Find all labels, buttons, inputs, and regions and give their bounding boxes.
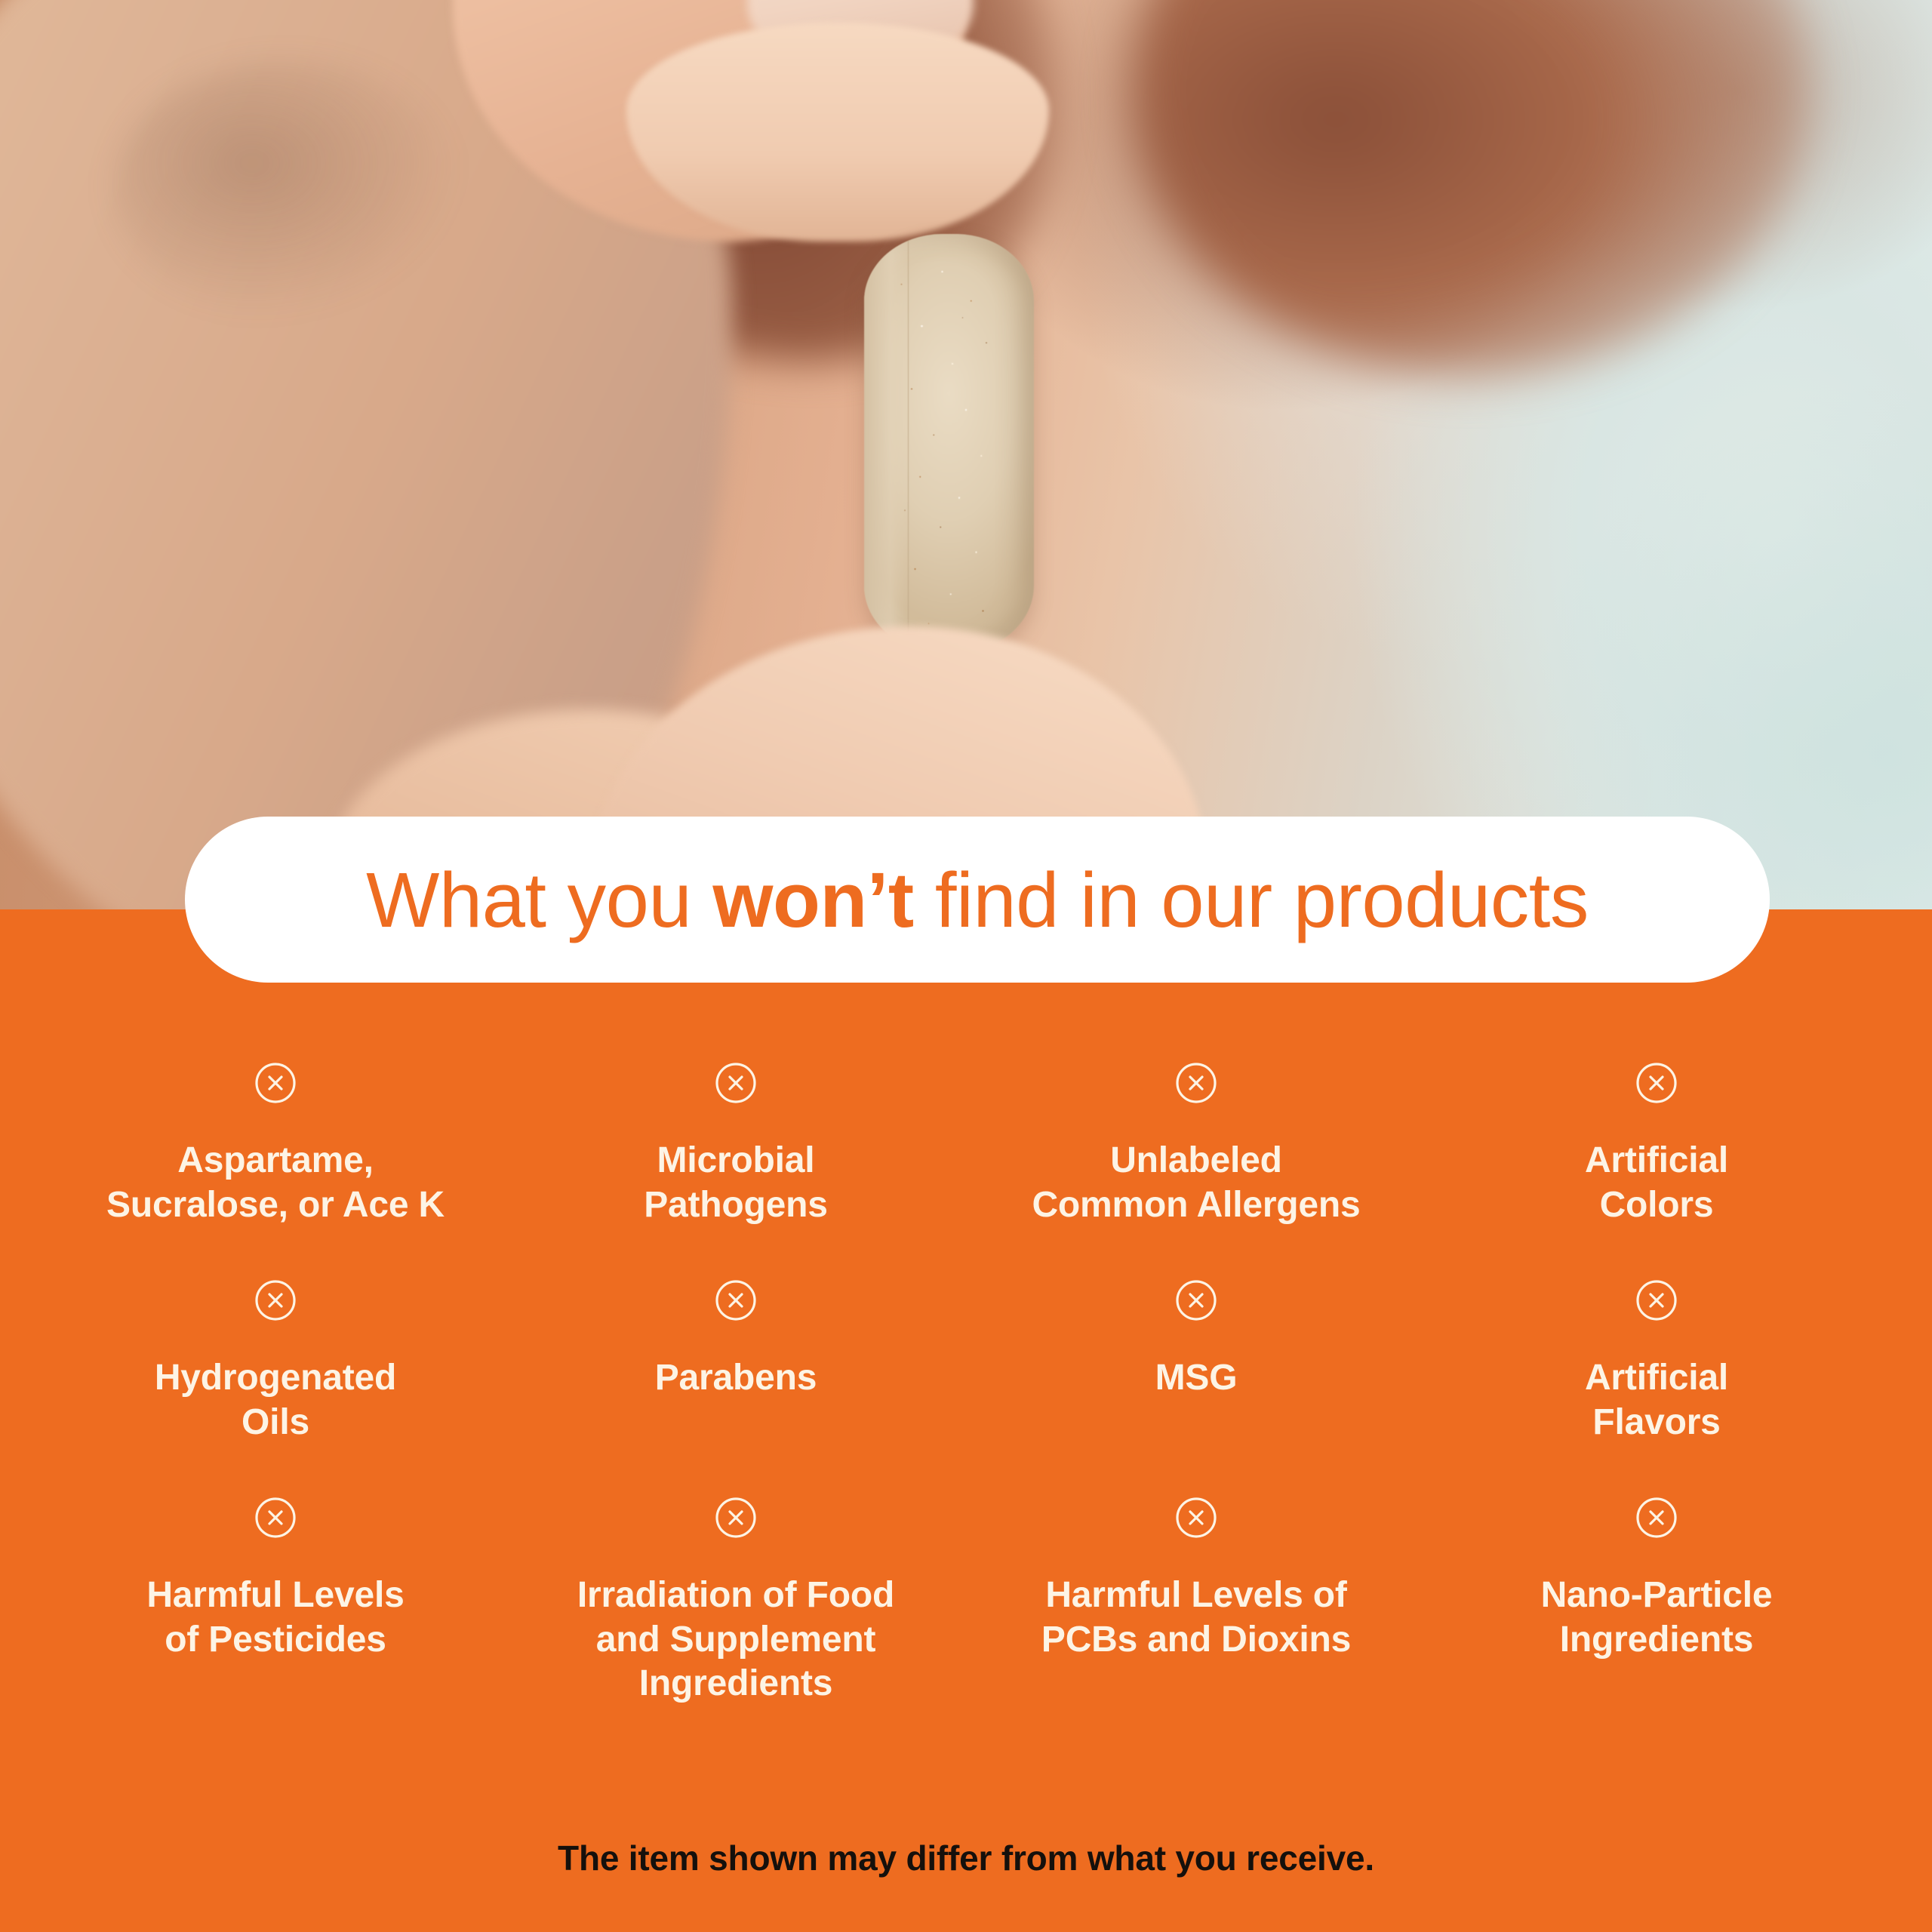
circle-x-icon (713, 1278, 758, 1323)
list-item: Nano-ParticleIngredients (1426, 1495, 1887, 1721)
list-item-label: Nano-ParticleIngredients (1541, 1574, 1773, 1662)
list-item-label: MicrobialPathogens (644, 1139, 828, 1227)
list-item: Irradiation of Foodand SupplementIngredi… (506, 1495, 966, 1721)
product-infographic: Aspartame,Sucralose, or Ace K MicrobialP… (0, 0, 1932, 1932)
headline-banner: What you won’t find in our products (185, 817, 1770, 983)
list-item: UnlabeledCommon Allergens (966, 1060, 1426, 1278)
circle-x-icon (1634, 1495, 1679, 1540)
list-item: ArtificialColors (1426, 1060, 1887, 1278)
list-item: Harmful Levels ofPCBs and Dioxins (966, 1495, 1426, 1721)
list-item: MSG (966, 1278, 1426, 1495)
tablet-edge-highlight (864, 234, 909, 653)
circle-x-icon (253, 1060, 298, 1106)
excluded-ingredients-grid: Aspartame,Sucralose, or Ace K MicrobialP… (45, 1060, 1887, 1721)
list-item-label: MSG (1155, 1356, 1238, 1401)
list-item-label: UnlabeledCommon Allergens (1032, 1139, 1360, 1227)
supplement-tablet (864, 234, 1034, 653)
features-panel: Aspartame,Sucralose, or Ace K MicrobialP… (0, 909, 1932, 1932)
blurred-arm-detail (113, 60, 460, 317)
circle-x-icon (713, 1495, 758, 1540)
list-item: ArtificialFlavors (1426, 1278, 1887, 1495)
headline-part-before: What you (366, 857, 712, 943)
list-item: HydrogenatedOils (45, 1278, 506, 1495)
circle-x-icon (1174, 1495, 1219, 1540)
list-item: Harmful Levelsof Pesticides (45, 1495, 506, 1721)
list-item-label: Aspartame,Sucralose, or Ace K (106, 1139, 445, 1227)
list-item-label: Irradiation of Foodand SupplementIngredi… (577, 1574, 894, 1706)
list-item: Aspartame,Sucralose, or Ace K (45, 1060, 506, 1278)
circle-x-icon (253, 1495, 298, 1540)
circle-x-icon (1634, 1278, 1679, 1323)
list-item: Parabens (506, 1278, 966, 1495)
list-item-label: Harmful Levels ofPCBs and Dioxins (1041, 1574, 1351, 1662)
list-item-label: ArtificialColors (1585, 1139, 1728, 1227)
list-item-label: HydrogenatedOils (155, 1356, 396, 1444)
product-photo (0, 0, 1932, 909)
circle-x-icon (1174, 1060, 1219, 1106)
disclaimer-text: The item shown may differ from what you … (0, 1838, 1932, 1878)
list-item-label: ArtificialFlavors (1585, 1356, 1728, 1444)
headline-part-after: find in our products (914, 857, 1589, 943)
list-item: MicrobialPathogens (506, 1060, 966, 1278)
list-item-label: Harmful Levelsof Pesticides (146, 1574, 404, 1662)
circle-x-icon (1174, 1278, 1219, 1323)
circle-x-icon (253, 1278, 298, 1323)
headline-emphasis: won’t (712, 857, 913, 943)
circle-x-icon (713, 1060, 758, 1106)
page-title: What you won’t find in our products (366, 861, 1589, 939)
list-item-label: Parabens (655, 1356, 817, 1401)
circle-x-icon (1634, 1060, 1679, 1106)
